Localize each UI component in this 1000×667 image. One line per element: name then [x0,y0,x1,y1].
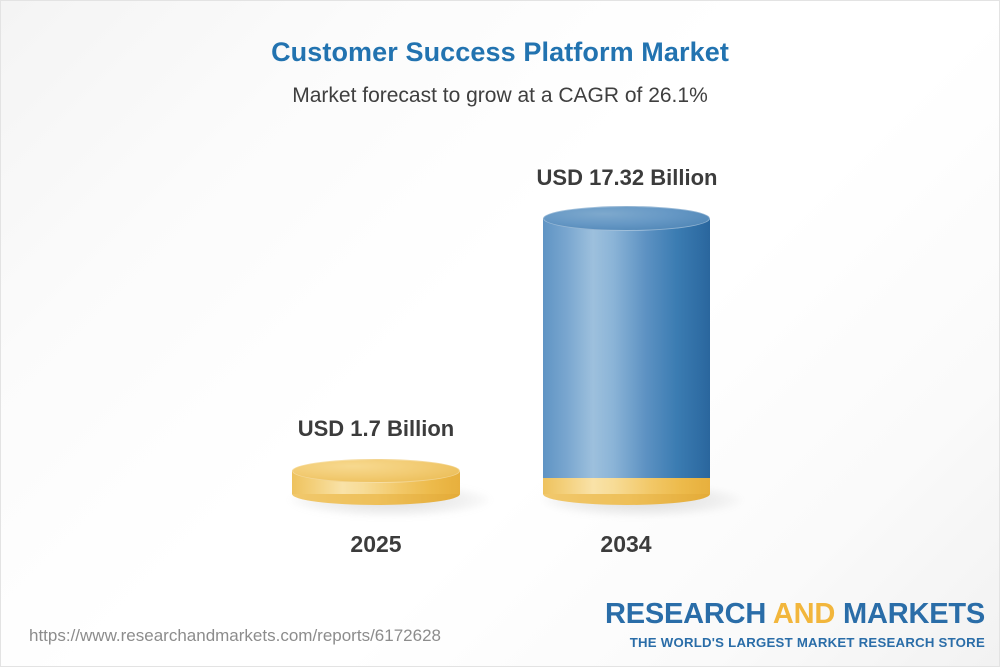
bar-cylinder-2025[interactable] [292,459,460,507]
value-label-2034: USD 17.32 Billion [457,165,797,191]
value-label-2025: USD 1.7 Billion [206,416,546,442]
report-url[interactable]: https://www.researchandmarkets.com/repor… [29,626,441,646]
cylinder-segment-2034-value [543,206,710,478]
cylinder-body-2034 [543,218,710,478]
brand-tagline: THE WORLD'S LARGEST MARKET RESEARCH STOR… [605,629,985,649]
research-and-markets-logo[interactable]: RESEARCH AND MARKETS THE WORLD'S LARGEST… [605,600,985,649]
bar-cylinder-2034[interactable] [543,206,710,507]
chart-plot-area: USD 1.7 Billion 2025 USD 17.32 Billion [1,1,1000,667]
cylinder-top-cap-2025 [292,459,460,483]
brand-name-part2: MARKETS [835,598,985,630]
market-forecast-infographic: Customer Success Platform Market Market … [0,0,1000,667]
brand-name-part1: RESEARCH [605,598,773,630]
cylinder-segment-2025-value [292,459,460,507]
cylinder-top-cap-2034 [543,206,710,231]
brand-name: RESEARCH AND MARKETS [605,600,985,629]
brand-name-and: AND [773,598,835,630]
category-label-2034: 2034 [456,531,796,558]
